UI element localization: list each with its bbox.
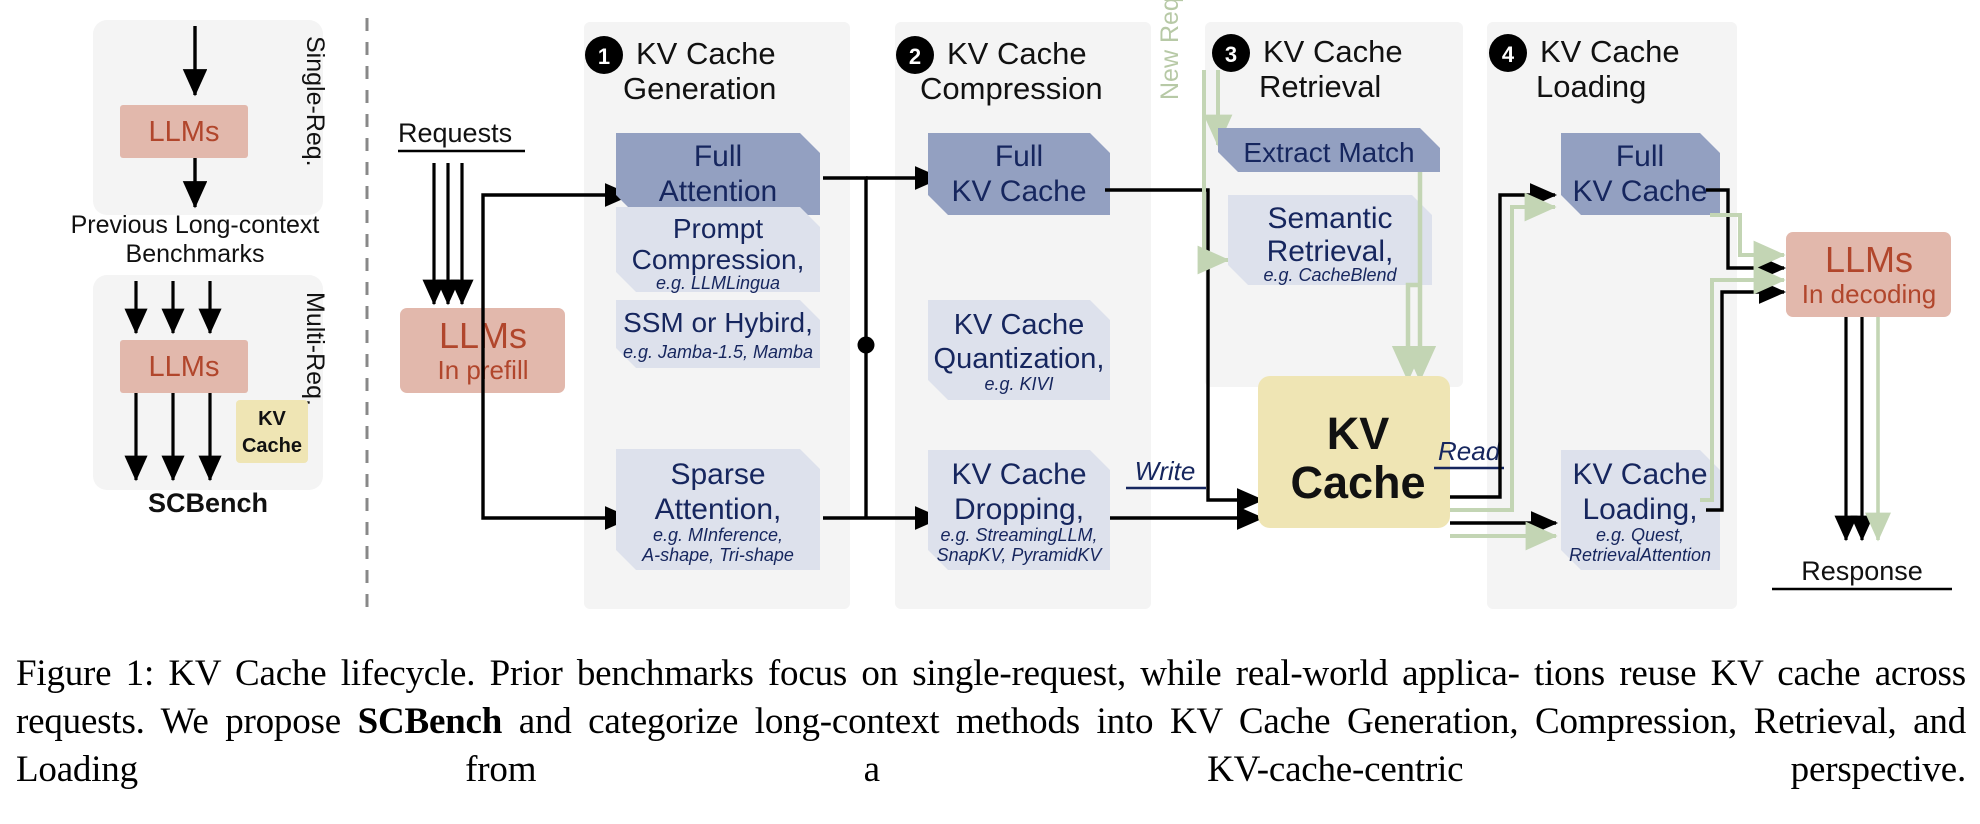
stage-4-title-line2: Loading: [1536, 69, 1646, 104]
stage-2-box-3-line2: Dropping,: [954, 493, 1084, 526]
requests-label: Requests: [398, 118, 512, 148]
read-label-group: Read: [1434, 436, 1504, 468]
stage-3-title-line1: KV Cache: [1263, 34, 1403, 69]
stage-4-box-2-eg-line1: e.g. Quest,: [1596, 525, 1684, 545]
stage-4-box-2-eg-line2: RetrievalAttention: [1569, 545, 1711, 565]
stage-1-box-2-line1: Prompt: [673, 213, 763, 244]
stage-3-box-2-eg: e.g. CacheBlend: [1263, 265, 1397, 285]
decoding-llm-title: LLMs: [1825, 239, 1913, 280]
stage-1-box-4-eg-line2: A-shape, Tri-shape: [641, 545, 794, 565]
caption-line2-b: and categorize long-context methods into: [502, 701, 1153, 742]
left-panel: Single-Req. LLMs Previous Long-context B…: [71, 20, 329, 518]
decoding-llm-subtitle: In decoding: [1802, 279, 1936, 309]
stage-1-box-1-line1: Full: [694, 140, 742, 173]
stage-1-box-4-line2: Attention,: [655, 493, 782, 526]
kv-cache-lifecycle-diagram: Single-Req. LLMs Previous Long-context B…: [0, 0, 1980, 640]
kv-cache-store-line2: Cache: [1290, 457, 1425, 508]
stage-2-box-2-eg: e.g. KIVI: [984, 374, 1053, 394]
previous-benchmarks-line1: Previous Long-context: [71, 211, 320, 239]
figure-root: Single-Req. LLMs Previous Long-context B…: [0, 0, 1980, 824]
new-requests-label: New Requests: [1156, 0, 1184, 100]
stage-4-title-line1: KV Cache: [1540, 34, 1680, 69]
requests-group: Requests: [398, 118, 525, 304]
stage-4-box-2-line2: Loading,: [1582, 493, 1697, 526]
stage-2-box-1-line2: KV Cache: [951, 175, 1086, 208]
stage-4-number: 4: [1502, 42, 1515, 67]
stage-2-box-3-eg-line1: e.g. StreamingLLM,: [940, 525, 1097, 545]
stage-1-number: 1: [598, 44, 610, 69]
previous-benchmarks-line2: Benchmarks: [126, 240, 265, 268]
stage-3-title-line2: Retrieval: [1259, 69, 1381, 104]
caption-line1: KV Cache lifecycle. Prior benchmarks foc…: [154, 653, 1520, 694]
stage-4-box-1-line1: Full: [1616, 140, 1664, 173]
stage-4-box-2-line1: KV Cache: [1572, 458, 1707, 491]
stage-1-title-line2: Generation: [623, 71, 776, 106]
stage-1-box-1-line2: Attention: [659, 175, 777, 208]
kv-cache-store-line1: KV: [1327, 408, 1390, 459]
caption-label: Figure 1:: [16, 653, 154, 694]
multi-req-label: Multi-Req.: [301, 292, 329, 406]
write-label-group: Write: [1126, 456, 1206, 488]
read-label: Read: [1438, 436, 1502, 466]
stage-2-box-3-line1: KV Cache: [951, 458, 1086, 491]
response-label: Response: [1801, 556, 1923, 586]
stage-3-box-2-line1: Semantic: [1267, 202, 1392, 235]
left-kv-cache-line2: Cache: [242, 435, 302, 457]
write-label: Write: [1135, 456, 1196, 486]
figure-caption: Figure 1: KV Cache lifecycle. Prior benc…: [16, 650, 1966, 794]
stage-2-box-3-eg-line2: SnapKV, PyramidKV: [937, 545, 1104, 565]
multi-req-llm-label: LLMs: [149, 351, 220, 383]
stage-1-box-2-eg: e.g. LLMLingua: [656, 273, 780, 293]
stage-2-box-1-line1: Full: [995, 140, 1043, 173]
stage-1-box-4-line1: Sparse: [670, 458, 765, 491]
stage-2-title-line2: Compression: [920, 71, 1103, 106]
stage-3-box-2-line2: Retrieval,: [1267, 235, 1394, 268]
stage-2-box-2-line1: KV Cache: [954, 309, 1085, 341]
left-kv-cache-line1: KV: [258, 408, 286, 430]
stage-3-box-1-line1: Extract Match: [1243, 137, 1414, 168]
single-req-llm-label: LLMs: [149, 116, 220, 148]
stage-2-number: 2: [909, 44, 921, 69]
stage-2-box-2-line2: Quantization,: [934, 343, 1105, 375]
stage-1-box-3-eg: e.g. Jamba-1.5, Mamba: [623, 342, 813, 362]
stage-1-box-4-eg-line1: e.g. MInference,: [653, 525, 783, 545]
stage-4-box-1-line2: KV Cache: [1572, 175, 1707, 208]
stage-1-box-2-line2: Compression,: [632, 244, 805, 275]
stage1-junction-dot: [858, 337, 875, 354]
single-req-label: Single-Req.: [301, 36, 329, 167]
kv-loading-to-decoding-green-arrow: [1700, 280, 1784, 500]
caption-scbench-bold: SCBench: [358, 701, 503, 742]
stage-1-box-3-line1: SSM or Hybird,: [623, 307, 813, 338]
stage-3-number: 3: [1225, 42, 1237, 67]
scbench-title: SCBench: [148, 488, 268, 518]
stage-2-title-line1: KV Cache: [947, 36, 1087, 71]
stage-1-title-line1: KV Cache: [636, 36, 776, 71]
